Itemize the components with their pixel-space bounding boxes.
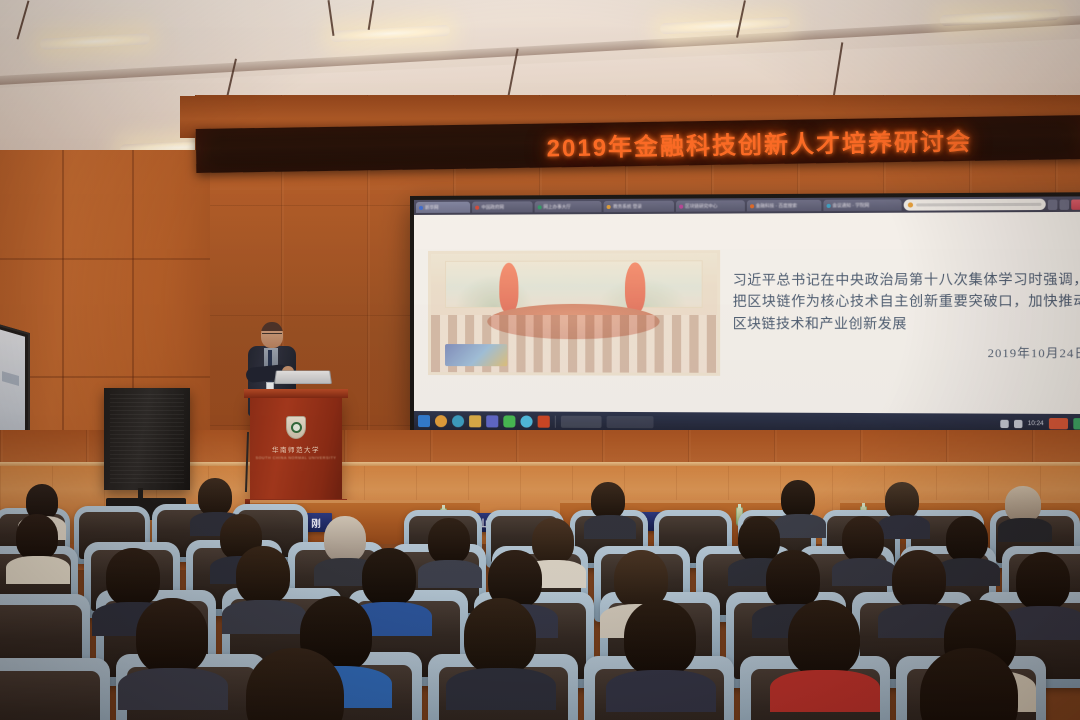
omnibox[interactable]: [904, 199, 1046, 211]
browser-tab-label: 金融科技 - 百度搜索: [756, 203, 797, 209]
audience-member: [124, 598, 220, 702]
powerpoint-icon[interactable]: [538, 415, 550, 427]
explorer-icon[interactable]: [469, 415, 481, 427]
auditorium-chair: [0, 658, 110, 720]
wechat-icon[interactable]: [503, 415, 515, 427]
slide-text-area: 习近平总书记在中央政治局第十八次集体学习时强调，把区块链作为核心技术自主创新重要…: [727, 212, 1080, 414]
flag-icon: [625, 263, 645, 313]
add-tab-button[interactable]: [1048, 199, 1057, 209]
flag-icon: [499, 263, 519, 313]
audience-seating: [0, 470, 1080, 720]
browser-tab[interactable]: 中国政府网: [472, 201, 532, 212]
projection-screen: 新华网 中国政府网 网上办事大厅 教务系统 登录 区块链研究中心: [410, 192, 1080, 438]
favicon-icon: [908, 202, 913, 207]
glasses-icon: [262, 333, 282, 337]
university-emblem-icon: [286, 416, 306, 439]
open-window-thumb[interactable]: [607, 415, 654, 427]
omnibox-url: [916, 203, 1041, 207]
audience-member: [452, 598, 548, 702]
slide-photo-area: [414, 214, 727, 413]
banner-text: 2019年金融科技创新人才培养研讨会: [546, 121, 972, 163]
audience-member: [612, 600, 708, 704]
conference-hall-photo: 2019年金融科技创新人才培养研讨会 新华网 中国政府网 网上办事大厅: [0, 0, 1080, 720]
browser-tab-label: 网上办事大厅: [543, 204, 570, 210]
system-tray[interactable]: 10:24: [1000, 418, 1080, 430]
taskbar-clock: 10:24: [1028, 420, 1044, 426]
network-icon[interactable]: [1000, 419, 1008, 427]
audience-member: [232, 648, 358, 720]
slide-date: 2019年10月24日: [733, 343, 1080, 361]
browser-tab-label: 教务系统 登录: [613, 203, 642, 209]
browser-icon[interactable]: [452, 415, 464, 427]
mural-backdrop: [445, 260, 703, 308]
presenter-laptop: [274, 370, 332, 384]
media-icon[interactable]: [486, 415, 498, 427]
browser-tab-label: 区块链研究中心: [685, 203, 717, 209]
news-watermark-logo: [445, 344, 507, 367]
menu-button[interactable]: [1059, 199, 1068, 209]
browser-tab[interactable]: 新华网: [416, 202, 470, 213]
input-method-icon[interactable]: [1049, 418, 1068, 429]
browser-tab[interactable]: 区块链研究中心: [676, 200, 744, 211]
browser-tab[interactable]: 网上办事大厅: [534, 201, 602, 212]
open-window-thumb[interactable]: [561, 415, 602, 427]
start-icon[interactable]: [418, 415, 430, 427]
browser-tab-label: 会议通知 - 学院网: [832, 202, 869, 208]
podium-top: [244, 389, 348, 398]
browser-tab[interactable]: 教务系统 登录: [604, 201, 674, 212]
podium-institution-name: 华南师范大学: [250, 444, 342, 454]
taskbar-divider: [555, 415, 556, 427]
news-photo: [428, 250, 720, 376]
audience-member: [776, 600, 872, 704]
audience-member: [8, 514, 66, 578]
volume-icon[interactable]: [1014, 419, 1022, 427]
security-icon[interactable]: [1073, 418, 1080, 429]
audience-member: [420, 518, 478, 582]
browser-tab[interactable]: 金融科技 - 百度搜索: [746, 200, 820, 212]
close-window-button[interactable]: [1071, 199, 1080, 209]
audience-member: [906, 648, 1032, 720]
search-icon[interactable]: [435, 415, 447, 427]
browser-tab[interactable]: 会议通知 - 学院网: [823, 199, 902, 211]
slide-content: 习近平总书记在中央政治局第十八次集体学习时强调，把区块链作为核心技术自主创新重要…: [414, 212, 1080, 414]
browser-tab-label: 中国政府网: [481, 204, 504, 210]
qq-icon[interactable]: [520, 415, 532, 427]
slide-paragraph: 习近平总书记在中央政治局第十八次集体学习时强调，把区块链作为核心技术自主创新重要…: [733, 269, 1080, 335]
audience-member: [1000, 486, 1048, 538]
audience-member: [586, 482, 632, 534]
podium-institution-sub: SOUTH CHINA NORMAL UNIVERSITY: [250, 456, 342, 460]
browser-tab-label: 新华网: [425, 204, 439, 210]
